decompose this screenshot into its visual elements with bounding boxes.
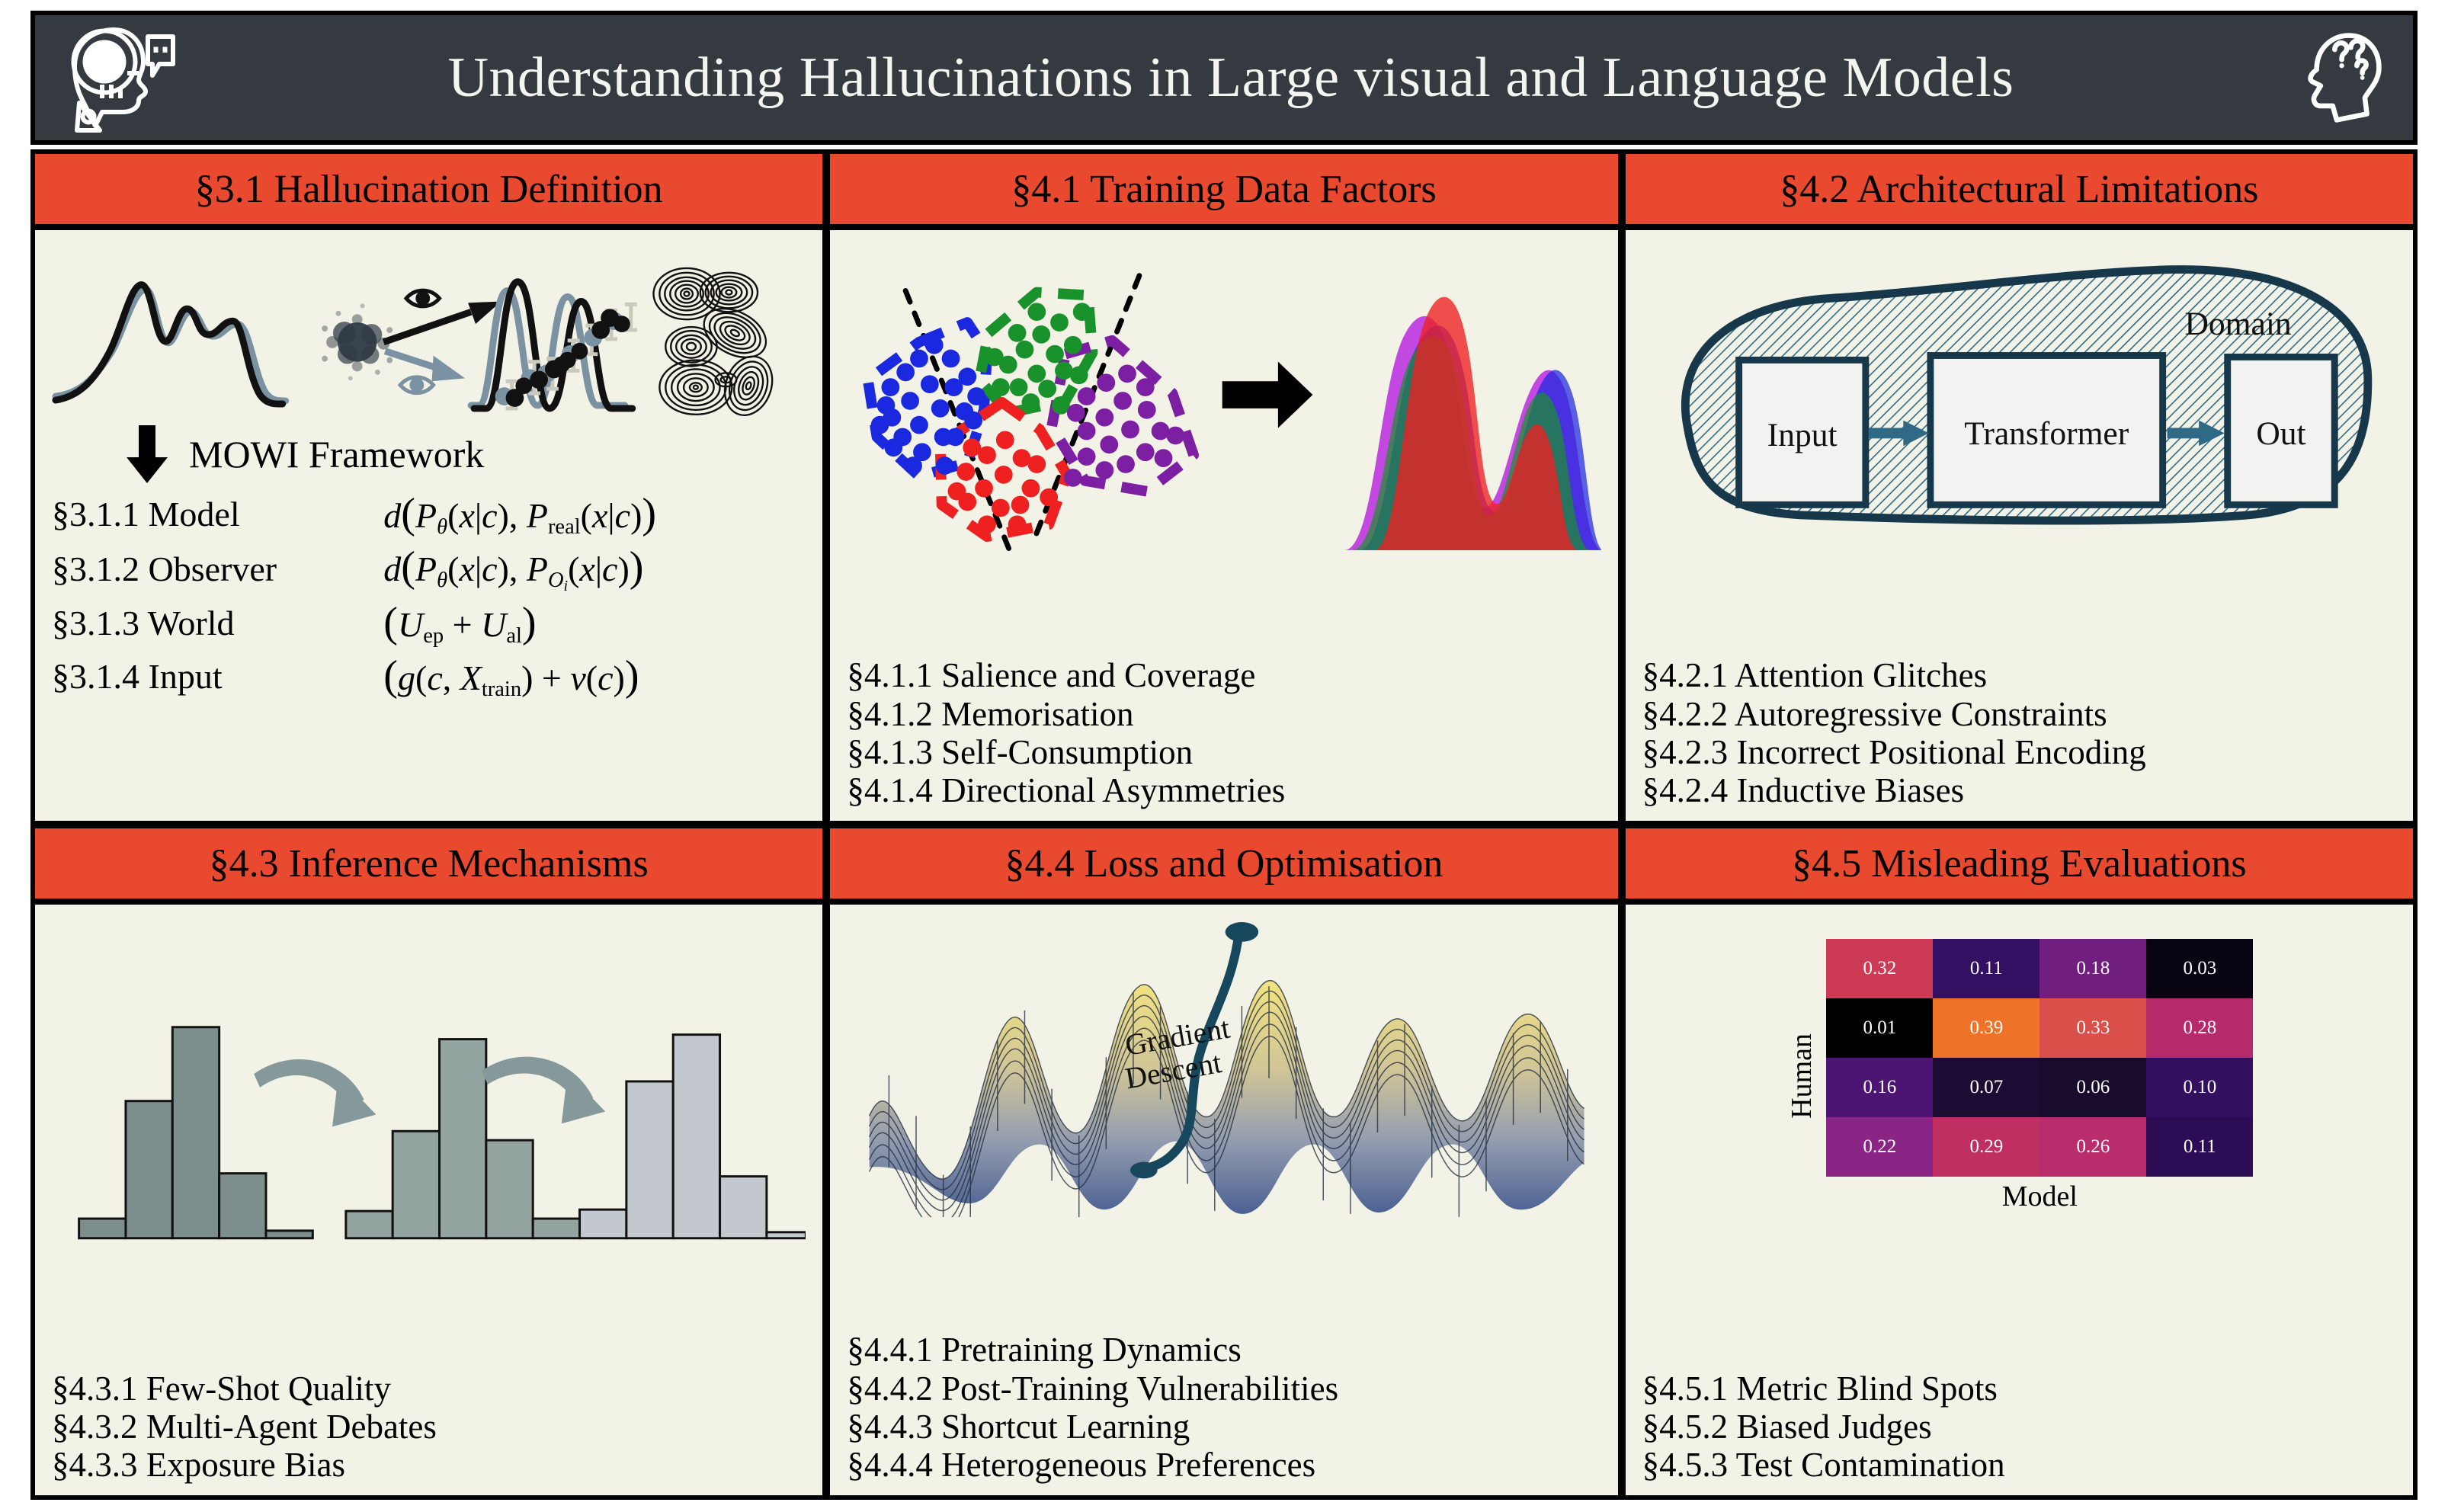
poster-title: Understanding Hallucinations in Large vi… xyxy=(175,46,2286,111)
panel-header-3-1: §3.1 Hallucination Definition xyxy=(35,154,822,230)
transform-arrow-icon xyxy=(1222,362,1313,428)
list-item[interactable]: §4.5.3 Test Contamination xyxy=(1642,1446,2396,1483)
list-item[interactable]: §4.1.4 Directional Asymmetries xyxy=(847,772,1600,809)
panel-title-4-4: §4.4 Loss and Optimisation xyxy=(1005,841,1443,886)
formula-row: §3.1.4 Input (g(c, Xtrain) + v(c)) xyxy=(52,650,806,703)
heatmap-column: 0.320.110.180.030.010.390.330.280.160.07… xyxy=(1826,939,2253,1213)
formula-expression: (g(c, Xtrain) + v(c)) xyxy=(383,650,806,703)
section-list-4-3: §4.3.1 Few-Shot Quality §4.3.2 Multi-Age… xyxy=(52,1370,806,1485)
transition-arrow-2 xyxy=(482,1057,605,1124)
section-list-4-1: §4.1.1 Salience and Coverage §4.1.2 Memo… xyxy=(847,657,1600,810)
formula-expression: d(Pθ(x|c), POi(x|c)) xyxy=(383,541,806,597)
list-item[interactable]: §4.1.3 Self-Consumption xyxy=(847,734,1600,770)
poster-header: Understanding Hallucinations in Large vi… xyxy=(30,11,2418,145)
heatmap-cell: 0.28 xyxy=(2146,998,2253,1058)
formula-label: §3.1.3 World xyxy=(52,597,383,650)
distribution-illustrations xyxy=(52,245,806,420)
list-item[interactable]: §4.3.1 Few-Shot Quality xyxy=(52,1370,806,1407)
panel-body-3-1: MOWI Framework §3.1.1 Model d(Pθ(x|c), P… xyxy=(35,230,822,821)
definition-figure-row xyxy=(52,241,806,424)
formula-label: §3.1.2 Observer xyxy=(52,541,383,597)
list-item[interactable]: §4.2.1 Attention Glitches xyxy=(1642,657,2396,694)
transition-arrow-1 xyxy=(254,1059,376,1126)
section-list-4-4: §4.4.1 Pretraining Dynamics §4.4.2 Post-… xyxy=(847,1331,1600,1485)
panel-hallucination-definition[interactable]: §3.1 Hallucination Definition xyxy=(35,154,822,821)
section-list-4-2: §4.2.1 Attention Glitches §4.2.2 Autoreg… xyxy=(1642,657,2396,810)
panel-header-4-4: §4.4 Loss and Optimisation xyxy=(830,828,1617,905)
panel-header-4-3: §4.3 Inference Mechanisms xyxy=(35,828,822,905)
panel-loss-and-optimisation[interactable]: §4.4 Loss and Optimisation xyxy=(830,828,1617,1495)
panel-misleading-evaluations[interactable]: §4.5 Misleading Evaluations Human 0.320.… xyxy=(1626,828,2413,1495)
list-item[interactable]: §4.4.1 Pretraining Dynamics xyxy=(847,1331,1600,1368)
poster-root: Understanding Hallucinations in Large vi… xyxy=(0,0,2448,1512)
list-item[interactable]: §4.5.1 Metric Blind Spots xyxy=(1642,1370,2396,1407)
formula-label: §3.1.1 Model xyxy=(52,488,383,541)
cluster-and-density-figure xyxy=(847,238,1600,558)
contour-plot xyxy=(653,268,780,420)
panel-header-4-5: §4.5 Misleading Evaluations xyxy=(1626,828,2413,905)
heatmap-grid[interactable]: 0.320.110.180.030.010.390.330.280.160.07… xyxy=(1826,939,2253,1177)
heatmap-cell: 0.01 xyxy=(1826,998,1933,1058)
heatmap-cell: 0.10 xyxy=(2146,1058,2253,1117)
mowi-formula-table: §3.1.1 Model d(Pθ(x|c), Preal(x|c)) §3.1… xyxy=(52,488,806,703)
gradient-descent-start xyxy=(1226,922,1259,942)
heatmap-x-axis-label: Model xyxy=(2002,1180,2078,1213)
list-item[interactable]: §4.4.2 Post-Training Vulnerabilities xyxy=(847,1370,1600,1407)
list-item[interactable]: §4.4.4 Heterogeneous Preferences xyxy=(847,1446,1600,1483)
eye-icon-lower xyxy=(400,377,434,393)
cluster-points-red xyxy=(948,431,1058,534)
panel-title-4-1: §4.1 Training Data Factors xyxy=(1011,167,1437,212)
panel-title-3-1: §3.1 Hallucination Definition xyxy=(195,167,663,212)
list-item[interactable]: §4.2.2 Autoregressive Constraints xyxy=(1642,696,2396,732)
loss-surface-figure: Gradient Descent xyxy=(847,912,1600,1217)
panel-grid: §3.1 Hallucination Definition xyxy=(30,149,2418,1500)
list-item[interactable]: §4.2.3 Incorrect Positional Encoding xyxy=(1642,734,2396,770)
heatmap-cell: 0.18 xyxy=(2039,939,2146,998)
panel-title-4-2: §4.2 Architectural Limitations xyxy=(1780,167,2258,212)
list-item[interactable]: §4.1.1 Salience and Coverage xyxy=(847,657,1600,694)
evaluation-heatmap-figure: Human 0.320.110.180.030.010.390.330.280.… xyxy=(1642,912,2396,1240)
loss-surface-mesh: Gradient Descent xyxy=(847,912,1600,1217)
heatmap-cell: 0.26 xyxy=(2039,1117,2146,1177)
panel-inference-mechanisms[interactable]: §4.3 Inference Mechanisms xyxy=(35,828,822,1495)
mowi-framework-label: MOWI Framework xyxy=(189,432,484,476)
domain-diagram: Domain Input Transformer Out xyxy=(1642,238,2396,543)
heatmap-cell: 0.39 xyxy=(1933,998,2039,1058)
list-item[interactable]: §4.5.2 Biased Judges xyxy=(1642,1408,2396,1445)
heatmap-cell: 0.06 xyxy=(2039,1058,2146,1117)
heatmap-cell: 0.03 xyxy=(2146,939,2253,998)
formula-row: §3.1.3 World (Uep + Ual) xyxy=(52,597,806,650)
eye-icon-upper xyxy=(406,290,440,306)
list-item[interactable]: §4.1.2 Memorisation xyxy=(847,696,1600,732)
heatmap-y-axis-label: Human xyxy=(1785,1033,1818,1119)
formula-expression: d(Pθ(x|c), Preal(x|c)) xyxy=(383,488,806,541)
panel-header-4-2: §4.2 Architectural Limitations xyxy=(1626,154,2413,230)
heatmap-cell: 0.07 xyxy=(1933,1058,2039,1117)
panel-title-4-5: §4.5 Misleading Evaluations xyxy=(1792,841,2246,886)
formula-expression: (Uep + Ual) xyxy=(383,597,806,650)
heatmap-cell: 0.33 xyxy=(2039,998,2146,1058)
heatmap-cell: 0.29 xyxy=(1933,1117,2039,1177)
list-item[interactable]: §4.2.4 Inductive Biases xyxy=(1642,772,2396,809)
panel-header-4-1: §4.1 Training Data Factors xyxy=(830,154,1617,230)
section-list-4-5: §4.5.1 Metric Blind Spots §4.5.2 Biased … xyxy=(1642,1370,2396,1485)
domain-label: Domain xyxy=(2184,306,2291,342)
list-item[interactable]: §4.4.3 Shortcut Learning xyxy=(847,1408,1600,1445)
panel-body-4-3: §4.3.1 Few-Shot Quality §4.3.2 Multi-Age… xyxy=(35,905,822,1495)
histogram-1 xyxy=(79,1027,313,1238)
panel-body-4-4: Gradient Descent §4.4.1 Pretraining Dyna… xyxy=(830,905,1617,1495)
formula-label: §3.1.4 Input xyxy=(52,650,383,703)
formula-row: §3.1.2 Observer d(Pθ(x|c), POi(x|c)) xyxy=(52,541,806,597)
gradient-descent-end xyxy=(1130,1162,1158,1179)
heatmap-cell: 0.16 xyxy=(1826,1058,1933,1117)
block-transformer-label: Transformer xyxy=(1964,415,2129,452)
formula-row: §3.1.1 Model d(Pθ(x|c), Preal(x|c)) xyxy=(52,488,806,541)
panel-body-4-1: §4.1.1 Salience and Coverage §4.1.2 Memo… xyxy=(830,230,1617,821)
heatmap-wrapper: Human 0.320.110.180.030.010.390.330.280.… xyxy=(1785,939,2253,1213)
density-curves xyxy=(1344,297,1600,550)
block-input-label: Input xyxy=(1767,417,1837,453)
domain-architecture-figure: Domain Input Transformer Out xyxy=(1642,238,2396,543)
block-out-label: Out xyxy=(2256,415,2305,452)
head-question-marks-icon xyxy=(2286,21,2387,135)
histogram-shift-figure xyxy=(52,912,806,1248)
noise-cloud xyxy=(322,303,393,380)
robot-head-chat-icon xyxy=(61,21,175,135)
heatmap-cell: 0.11 xyxy=(1933,939,2039,998)
panel-body-4-2: Domain Input Transformer Out xyxy=(1626,230,2413,821)
cluster-density-illustration xyxy=(847,238,1600,558)
panel-training-data-factors[interactable]: §4.1 Training Data Factors xyxy=(830,154,1617,821)
list-item[interactable]: §4.3.2 Multi-Agent Debates xyxy=(52,1408,806,1445)
heatmap-cell: 0.22 xyxy=(1826,1117,1933,1177)
heatmap-cell: 0.11 xyxy=(2146,1117,2253,1177)
black-arrow-to-peak xyxy=(383,301,501,341)
mowi-framework-row: MOWI Framework xyxy=(125,425,806,483)
panel-architectural-limitations[interactable]: §4.2 Architectural Limitations Domain xyxy=(1626,154,2413,821)
panel-title-4-3: §4.3 Inference Mechanisms xyxy=(210,841,649,886)
panel-body-4-5: Human 0.320.110.180.030.010.390.330.280.… xyxy=(1626,905,2413,1495)
histogram-sequence xyxy=(52,912,806,1248)
down-arrow-icon xyxy=(125,425,169,483)
heatmap-cell: 0.32 xyxy=(1826,939,1933,998)
list-item[interactable]: §4.3.3 Exposure Bias xyxy=(52,1446,806,1483)
histogram-3 xyxy=(580,1035,806,1238)
